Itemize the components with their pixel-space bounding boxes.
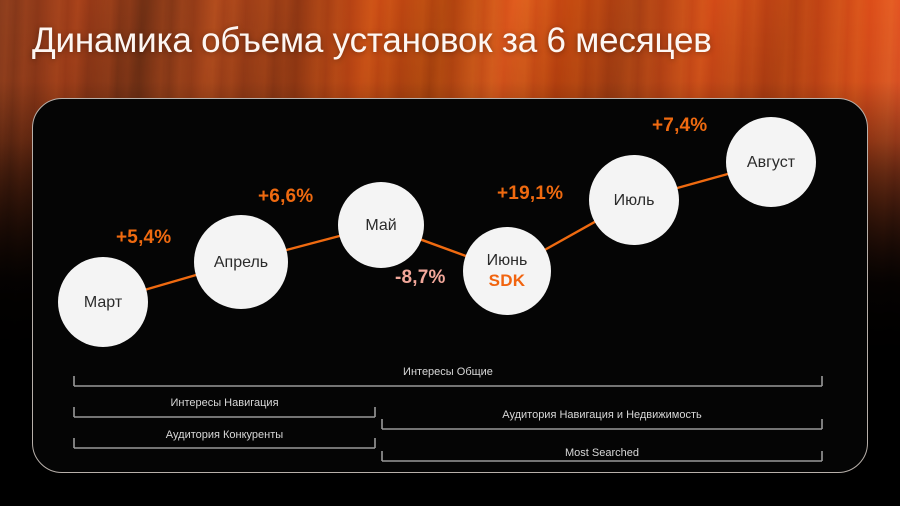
chart-node-label: Апрель bbox=[214, 253, 268, 272]
chart-node-label: Март bbox=[84, 293, 122, 312]
chart-node-3[interactable]: Май bbox=[338, 182, 424, 268]
chart-node-label: Май bbox=[365, 216, 396, 235]
chart-node-label: Август bbox=[747, 153, 795, 172]
chart-node-6[interactable]: Август bbox=[726, 117, 816, 207]
chart-node-4[interactable]: ИюньSDK bbox=[463, 227, 551, 315]
delta-label-2: +6,6% bbox=[258, 186, 313, 208]
delta-label-3: -8,7% bbox=[395, 267, 446, 289]
chart-node-2[interactable]: Апрель bbox=[194, 215, 288, 309]
chart-node-5[interactable]: Июль bbox=[589, 155, 679, 245]
bracket-label-2: Интересы Навигация bbox=[74, 397, 375, 410]
chart-node-1[interactable]: Март bbox=[58, 257, 148, 347]
chart-node-label: Июнь bbox=[487, 251, 528, 270]
bracket-label-4: Аудитория Конкуренты bbox=[74, 429, 375, 442]
delta-label-5: +7,4% bbox=[652, 115, 707, 137]
bracket-label-3: Аудитория Навигация и Недвижимость bbox=[382, 409, 822, 422]
chart-node-sublabel: SDK bbox=[489, 270, 526, 291]
page-title: Динамика объема установок за 6 месяцев bbox=[32, 19, 712, 63]
bracket-label-5: Most Searched bbox=[382, 447, 822, 460]
chart-node-label: Июль bbox=[614, 191, 655, 210]
delta-label-1: +5,4% bbox=[116, 227, 171, 249]
bracket-label-1: Интересы Общие bbox=[74, 366, 822, 379]
delta-label-4: +19,1% bbox=[497, 183, 563, 205]
slide-canvas: Динамика объема установок за 6 месяцев М… bbox=[0, 0, 900, 506]
